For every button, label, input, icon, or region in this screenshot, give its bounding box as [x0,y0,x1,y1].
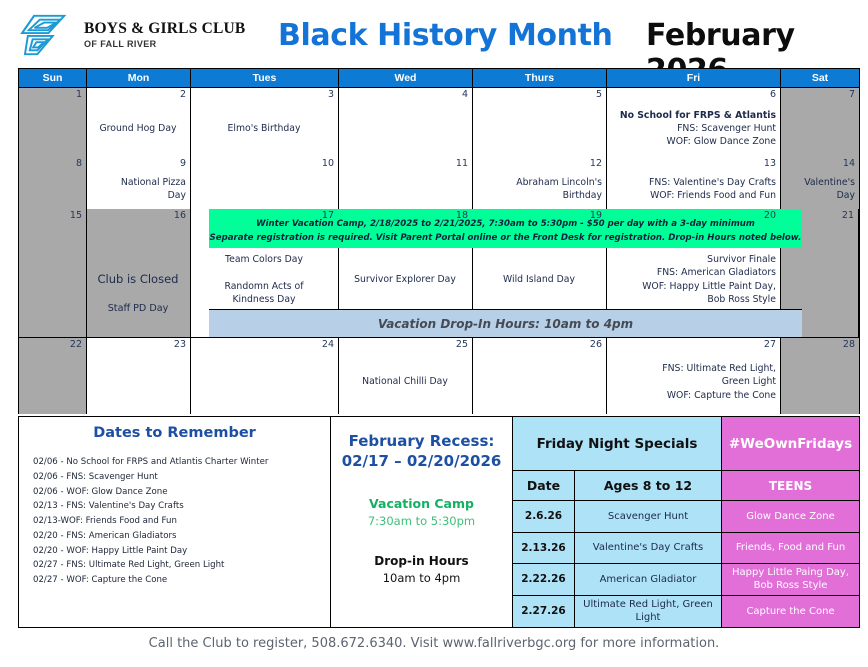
day-number: 10 [322,158,334,169]
page-header: BOYS & GIRLS CLUB OF FALL RIVER Black Hi… [0,0,868,68]
date-to-remember-item: 02/27 - FNS: Ultimate Red Light, Green L… [33,558,330,573]
club-closed-label: Club is Closed [90,271,186,288]
page-title: Black History Month [278,18,613,53]
fns-teens-cell: Glow Dance Zone [722,501,859,532]
date-to-remember-item: 02/06 - No School for FRPS and Atlantis … [33,455,330,470]
day-events [194,352,334,412]
bottom-panels: Dates to Remember 02/06 - No School for … [18,416,860,628]
day-number: 3 [328,89,334,100]
day-event-line: Day [90,189,186,202]
day-event-line: No School for FRPS & Atlantis [610,109,776,122]
calendar-day-2[interactable]: 2Ground Hog Day [87,88,191,157]
day-event-line: Green Light [610,375,776,388]
calendar-day-1[interactable]: 1 [19,88,87,157]
february-recess-panel: February Recess: 02/17 – 02/20/2026 Vaca… [331,417,513,627]
calendar-day-27[interactable]: 27FNS: Ultimate Red Light,Green LightWOF… [607,338,781,414]
table-row: 2.22.26American GladiatorHappy Little Pa… [513,564,859,596]
day-events: Valentine'sDay [784,171,855,207]
dow-header-sun: Sun [19,69,87,87]
calendar-grid: SunMonTuesWedThursFriSat 12Ground Hog Da… [18,68,860,414]
dow-header-thurs: Thurs [473,69,607,87]
calendar-day-8[interactable]: 8 [19,157,87,209]
day-event-line: Kindness Day [194,293,334,306]
day-events: Survivor Explorer Day [342,252,468,307]
day-number: 23 [174,339,186,350]
vacation-camp-hours: 7:30am to 5:30pm [331,514,512,528]
day-events: Ground Hog Day [90,102,186,155]
staff-pd-label: Staff PD Day [90,302,186,316]
day-events: FNS: Ultimate Red Light,Green LightWOF: … [610,352,776,412]
day-events: National Chilli Day [342,352,468,412]
day-number: 5 [596,89,602,100]
day-number: 21 [842,210,854,221]
day-number: 8 [76,158,82,169]
day-events: Abraham Lincoln'sBirthday [476,171,602,207]
date-to-remember-item: 02/20 - WOF: Happy Little Paint Day [33,544,330,559]
calendar-day-10[interactable]: 10 [191,157,339,209]
fns-header-row: Friday Night Specials #WeOwnFridays [513,417,859,471]
fns-date-cell: 2.22.26 [513,564,575,595]
logo-subtitle: OF FALL RIVER [84,40,245,49]
boys-girls-club-emblem-icon [18,12,76,58]
day-number: 24 [322,339,334,350]
calendar-day-15[interactable]: 15 [19,209,87,337]
day-number: 2 [180,89,186,100]
day-events: Club is ClosedStaff PD Day [90,252,186,335]
dropin-hours-label: Drop-in Hours [331,554,512,568]
day-events [784,102,855,155]
table-row: 2.27.26Ultimate Red Light, Green LightCa… [513,596,859,628]
column-header-teens: TEENS [722,471,859,500]
fns-ages-cell: Scavenger Hunt [575,501,722,532]
dropin-hours-value: 10am to 4pm [331,571,512,585]
day-events: Survivor FinaleFNS: American GladiatorsW… [610,252,776,307]
day-events: National PizzaDay [90,171,186,207]
calendar-day-23[interactable]: 23 [87,338,191,414]
day-event-line: Team Colors Day [194,253,334,266]
column-header-ages: Ages 8 to 12 [575,471,722,500]
fns-date-cell: 2.13.26 [513,533,575,564]
calendar-day-11[interactable]: 11 [339,157,473,209]
day-number: 1 [76,89,82,100]
calendar-day-13[interactable]: 13FNS: Valentine's Day CraftsWOF: Friend… [607,157,781,209]
calendar-week-row-vacation: 1516Club is ClosedStaff PD Day17Team Col… [18,209,860,338]
fns-ages-cell: American Gladiator [575,564,722,595]
fns-date-cell: 2.6.26 [513,501,575,532]
logo-title: BOYS & GIRLS CLUB [84,21,245,37]
calendar-day-12[interactable]: 12Abraham Lincoln'sBirthday [473,157,607,209]
dates-to-remember-list: 02/06 - No School for FRPS and Atlantis … [19,455,330,588]
day-event-line: Valentine's [784,176,855,189]
fns-teens-cell: Happy Little Paing Day, Bob Ross Style [722,564,859,595]
dow-header-tues: Tues [191,69,339,87]
day-number: 15 [70,210,82,221]
day-events [784,352,855,412]
calendar-day-22[interactable]: 22 [19,338,87,414]
day-number: 26 [590,339,602,350]
calendar-day-16[interactable]: 16Club is ClosedStaff PD Day [87,209,191,337]
dates-to-remember-title: Dates to Remember [19,425,330,441]
day-events [194,171,334,207]
calendar-day-4[interactable]: 4 [339,88,473,157]
vacation-dropin-hours-bar: Vacation Drop-In Hours: 10am to 4pm [209,309,802,337]
day-events: FNS: Valentine's Day CraftsWOF: Friends … [610,171,776,207]
day-number: 6 [770,89,776,100]
calendar-day-5[interactable]: 5 [473,88,607,157]
table-row: 2.13.26Valentine's Day CraftsFriends, Fo… [513,533,859,565]
recess-title-line2: 02/17 – 02/20/2026 [331,451,512,471]
table-row: 2.6.26Scavenger HuntGlow Dance Zone [513,501,859,533]
fns-date-cell: 2.27.26 [513,596,575,628]
day-events [22,352,82,412]
day-event-line: WOF: Happy Little Paint Day, [610,280,776,293]
calendar-day-25[interactable]: 25National Chilli Day [339,338,473,414]
calendar-day-6[interactable]: 6No School for FRPS & AtlantisFNS: Scave… [607,88,781,157]
weownfridays-hashtag: #WeOwnFridays [722,417,859,470]
day-number: 16 [174,210,186,221]
day-event-line: Survivor Finale [610,253,776,266]
date-to-remember-item: 02/27 - WOF: Capture the Cone [33,573,330,588]
recess-title-line1: February Recess: [331,431,512,451]
calendar-week-row: 12Ground Hog Day3Elmo's Birthday456No Sc… [18,88,860,157]
day-event-line: Abraham Lincoln's [476,176,602,189]
day-events: Team Colors Day Randomn Acts ofKindness … [194,252,334,307]
day-number: 7 [849,89,855,100]
day-number: 27 [764,339,776,350]
day-event-line: Birthday [476,189,602,202]
calendar-day-28[interactable]: 28 [781,338,859,414]
day-events [90,352,186,412]
day-number: 4 [462,89,468,100]
day-event-line: National Chilli Day [342,375,468,388]
fns-ages-cell: Valentine's Day Crafts [575,533,722,564]
day-events: No School for FRPS & AtlantisFNS: Scaven… [610,102,776,155]
date-to-remember-item: 02/20 - FNS: American Gladiators [33,529,330,544]
calendar-week-row: 22232425National Chilli Day2627FNS: Ulti… [18,338,860,414]
day-event-line [194,266,334,279]
day-event-line: Bob Ross Style [610,293,776,306]
day-events: Wild Island Day [476,252,602,307]
day-event-line: Wild Island Day [476,273,602,286]
day-number: 11 [456,158,468,169]
day-event-line: FNS: American Gladiators [610,266,776,279]
bgc-logo: BOYS & GIRLS CLUB OF FALL RIVER [18,12,245,58]
calendar-day-26[interactable]: 26 [473,338,607,414]
day-event-line: WOF: Friends Food and Fun [610,189,776,202]
day-events [476,352,602,412]
day-events [342,171,468,207]
date-to-remember-item: 02/06 - FNS: Scavenger Hunt [33,470,330,485]
day-number: 13 [764,158,776,169]
day-event-line: Ground Hog Day [90,122,186,135]
calendar-day-24[interactable]: 24 [191,338,339,414]
day-event-line: WOF: Capture the Cone [610,389,776,402]
date-to-remember-item: 02/13 - FNS: Valentine's Day Crafts [33,499,330,514]
day-event-line: National Pizza [90,176,186,189]
calendar-weeks: 12Ground Hog Day3Elmo's Birthday456No Sc… [18,88,860,414]
day-event-line: Survivor Explorer Day [342,273,468,286]
calendar-day-3[interactable]: 3Elmo's Birthday [191,88,339,157]
dow-header-wed: Wed [339,69,473,87]
day-events [476,102,602,155]
day-events [22,171,82,207]
day-event-line: Elmo's Birthday [194,122,334,135]
day-event-line: FNS: Valentine's Day Crafts [610,176,776,189]
day-number: 20 [764,210,776,221]
fns-header-title: Friday Night Specials [513,417,722,470]
day-number: 9 [180,158,186,169]
dow-header-sat: Sat [781,69,859,87]
day-number: 12 [590,158,602,169]
day-of-week-header: SunMonTuesWedThursFriSat [18,68,860,88]
fns-ages-cell: Ultimate Red Light, Green Light [575,596,722,628]
dow-header-fri: Fri [607,69,781,87]
dow-header-mon: Mon [87,69,191,87]
day-events [22,102,82,155]
dates-to-remember-panel: Dates to Remember 02/06 - No School for … [19,417,331,627]
vacation-camp-label: Vacation Camp [331,496,512,511]
day-events: Elmo's Birthday [194,102,334,155]
day-event-line: FNS: Scavenger Hunt [610,122,776,135]
day-number: 14 [843,158,855,169]
calendar-day-14[interactable]: 14Valentine'sDay [781,157,859,209]
day-number: 19 [590,210,602,221]
day-number: 28 [843,339,855,350]
calendar-day-9[interactable]: 9National PizzaDay [87,157,191,209]
column-header-date: Date [513,471,575,500]
day-event-line: WOF: Glow Dance Zone [610,135,776,148]
day-number: 25 [456,339,468,350]
day-number: 17 [322,210,334,221]
date-to-remember-item: 02/06 - WOF: Glow Dance Zone [33,485,330,500]
fns-teens-cell: Friends, Food and Fun [722,533,859,564]
friday-night-specials-panel: Friday Night Specials #WeOwnFridays Date… [513,417,859,627]
fns-teens-cell: Capture the Cone [722,596,859,628]
fns-rows: 2.6.26Scavenger HuntGlow Dance Zone2.13.… [513,501,859,627]
day-event-line: FNS: Ultimate Red Light, [610,362,776,375]
calendar-week-row: 89National PizzaDay101112Abraham Lincoln… [18,157,860,209]
day-events [342,102,468,155]
day-number: 18 [456,210,468,221]
day-event-line: Randomn Acts of [194,280,334,293]
day-event-line: Day [784,189,855,202]
calendar-day-7[interactable]: 7 [781,88,859,157]
fns-column-header-row: Date Ages 8 to 12 TEENS [513,471,859,501]
day-number: 22 [70,339,82,350]
footer-note: Call the Club to register, 508.672.6340.… [0,636,868,651]
calendar-page: BOYS & GIRLS CLUB OF FALL RIVER Black Hi… [0,0,868,667]
date-to-remember-item: 02/13-WOF: Friends Food and Fun [33,514,330,529]
